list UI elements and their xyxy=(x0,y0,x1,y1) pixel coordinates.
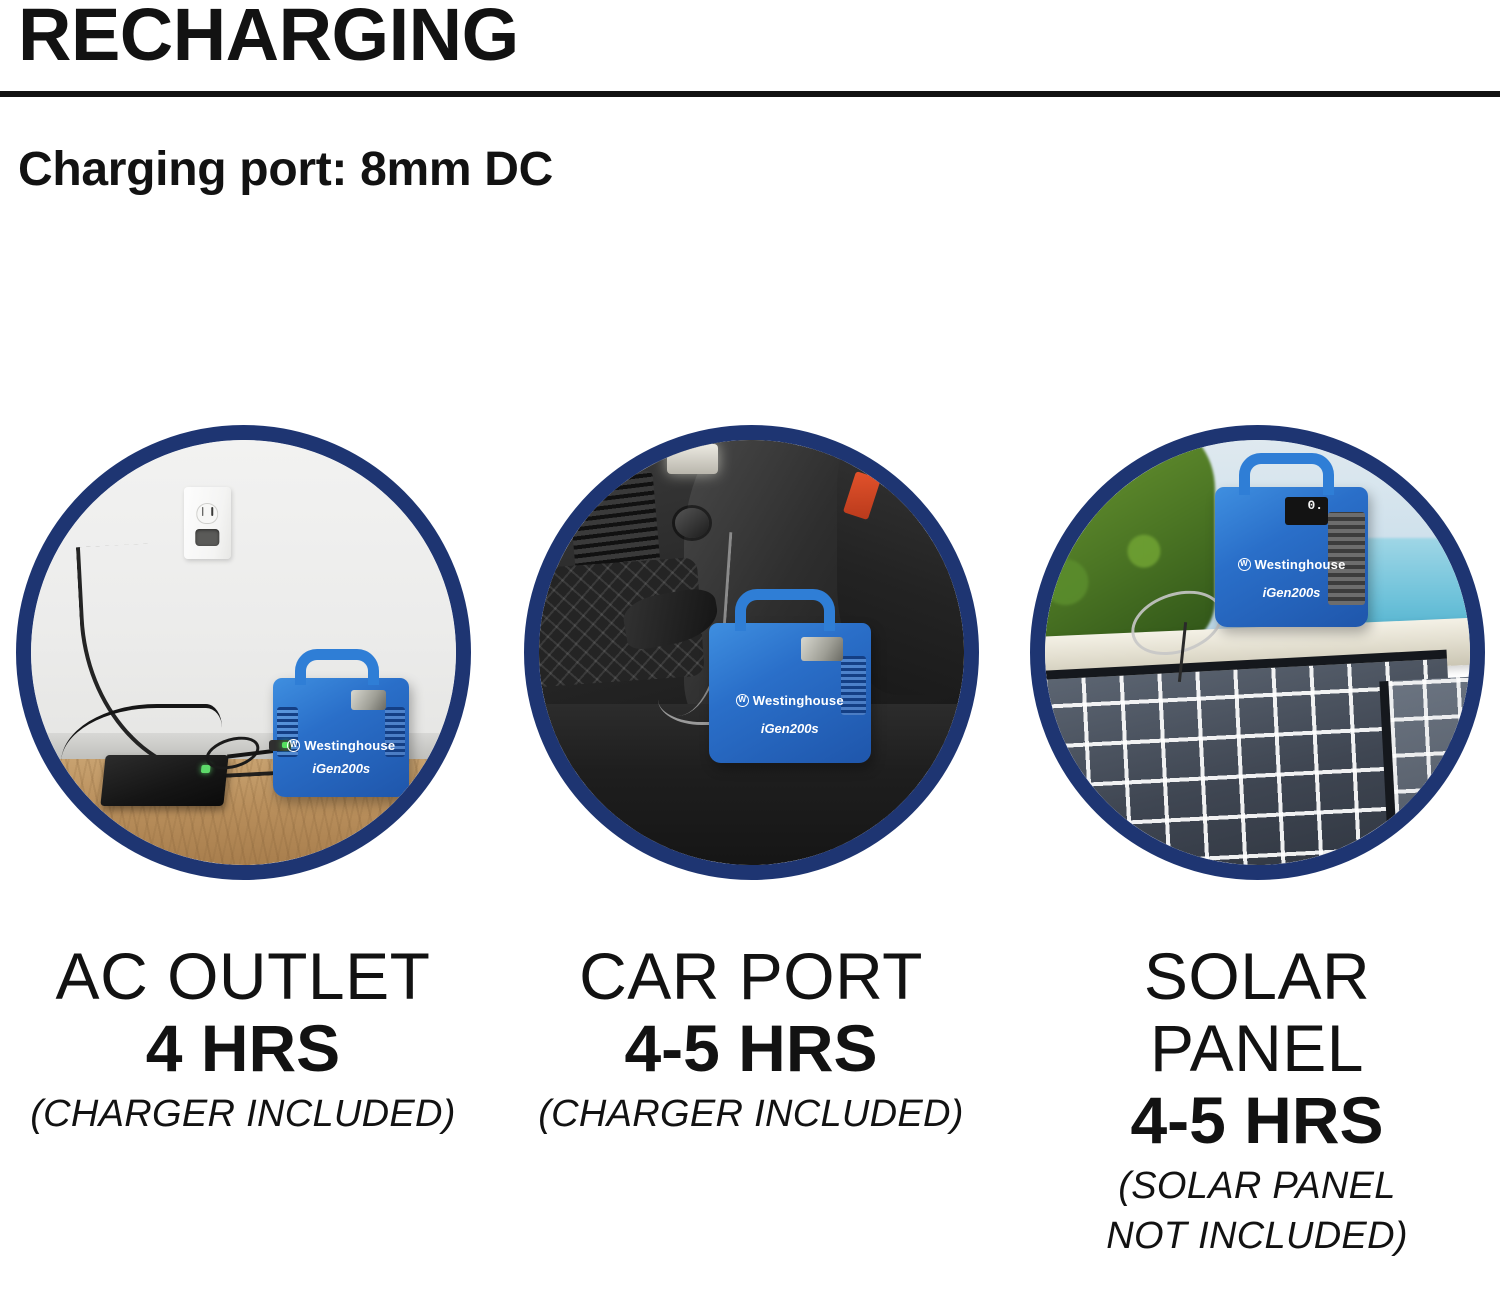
power-station-unit: Westinghouse iGen200s xyxy=(273,678,409,797)
product-model-label: iGen200s xyxy=(761,721,819,736)
method-column-car-port: Westinghouse iGen200s CAR PORT 4-5 HRS (… xyxy=(516,420,986,1296)
caption-ac-outlet: AC OUTLET 4 HRS (CHARGER INCLUDED) xyxy=(8,940,478,1139)
scene-solar-panel: Westinghouse iGen200s xyxy=(1045,440,1470,865)
product-brand-label: Westinghouse xyxy=(287,738,395,753)
page-title: RECHARGING xyxy=(18,0,519,74)
method-hours: 4 HRS xyxy=(8,1013,478,1083)
photo-solar-panel: Westinghouse iGen200s xyxy=(1030,425,1485,880)
unit-display xyxy=(1285,497,1328,525)
caption-solar-panel: SOLAR PANEL 4-5 HRS (SOLAR PANEL NOT INC… xyxy=(1022,940,1492,1261)
photo-car-port: Westinghouse iGen200s xyxy=(524,425,979,880)
method-name-line1: SOLAR xyxy=(1022,940,1492,1012)
photo-ac-outlet: Westinghouse iGen200s xyxy=(16,425,471,880)
method-name: AC OUTLET xyxy=(8,940,478,1012)
method-name-line2: PANEL xyxy=(1022,1012,1492,1084)
method-note-line1: (SOLAR PANEL xyxy=(1022,1161,1492,1211)
method-column-ac-outlet: Westinghouse iGen200s AC OUTLET 4 HRS (C… xyxy=(8,420,478,1296)
method-note: (CHARGER INCLUDED) xyxy=(516,1089,986,1139)
solar-panel-fold xyxy=(1379,675,1470,865)
recharging-methods: Westinghouse iGen200s AC OUTLET 4 HRS (C… xyxy=(0,420,1500,1296)
method-note-line2: NOT INCLUDED) xyxy=(1022,1211,1492,1261)
product-brand-label: Westinghouse xyxy=(1237,557,1345,572)
method-column-solar-panel: Westinghouse iGen200s SOLAR PANEL 4-5 HR… xyxy=(1022,420,1492,1296)
title-divider xyxy=(0,91,1500,97)
westinghouse-w-icon xyxy=(736,694,749,707)
scene-ac-outlet: Westinghouse iGen200s xyxy=(31,440,456,865)
dome-light xyxy=(667,444,718,474)
recharging-infographic: RECHARGING Charging port: 8mm DC xyxy=(0,0,1500,1296)
scene-car-port: Westinghouse iGen200s xyxy=(539,440,964,865)
power-station-unit: Westinghouse iGen200s xyxy=(1215,487,1368,627)
method-hours: 4-5 HRS xyxy=(516,1013,986,1083)
method-note: (CHARGER INCLUDED) xyxy=(8,1089,478,1139)
westinghouse-w-icon xyxy=(287,739,300,752)
power-station-unit: Westinghouse iGen200s xyxy=(709,623,871,763)
product-brand-label: Westinghouse xyxy=(736,693,844,708)
caption-car-port: CAR PORT 4-5 HRS (CHARGER INCLUDED) xyxy=(516,940,986,1139)
method-hours: 4-5 HRS xyxy=(1022,1085,1492,1155)
westinghouse-w-icon xyxy=(1237,558,1250,571)
method-name: CAR PORT xyxy=(516,940,986,1012)
charging-port-subtitle: Charging port: 8mm DC xyxy=(18,142,553,198)
product-model-label: iGen200s xyxy=(312,761,370,776)
product-model-label: iGen200s xyxy=(1263,585,1321,600)
